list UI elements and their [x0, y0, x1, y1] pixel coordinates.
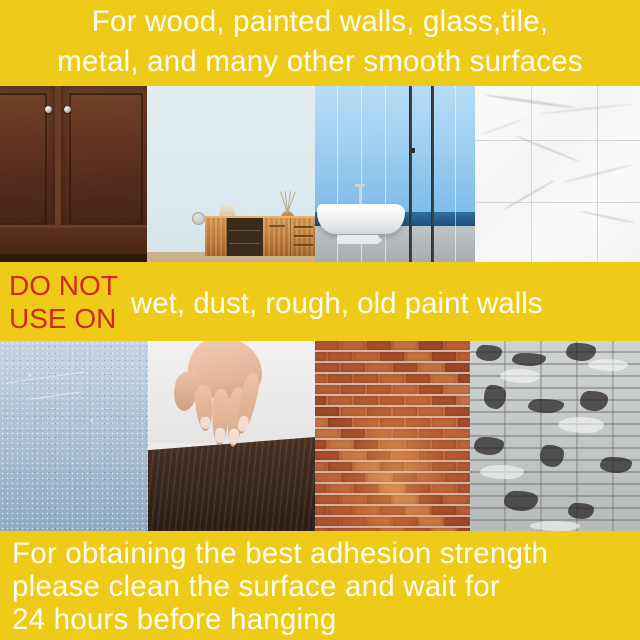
brick [328, 374, 352, 383]
whitewash-patch [588, 359, 628, 371]
brick [445, 407, 469, 416]
bath-mat [337, 235, 379, 244]
glass-pane-edge-4 [455, 86, 456, 262]
brick [354, 352, 378, 361]
brick [315, 341, 339, 350]
brick [393, 473, 417, 482]
brick [341, 363, 365, 372]
do-not-use-band: DO NOT USE ON wet, dust, rough, old pain… [0, 262, 640, 341]
brick [380, 352, 404, 361]
unsuitable-surfaces-photo-strip [0, 341, 640, 531]
brick [406, 352, 430, 361]
unsuitable-surfaces-text: wet, dust, rough, old paint walls [118, 283, 640, 320]
whitewash-patch [480, 465, 524, 479]
whitewash-patch [558, 417, 604, 433]
brick [445, 363, 469, 372]
brick [354, 462, 378, 471]
brick [445, 429, 469, 438]
brick [315, 418, 326, 427]
brick [432, 484, 456, 493]
brick [406, 396, 430, 405]
cabinet-knob-right [64, 106, 71, 113]
brick [393, 385, 417, 394]
brick [367, 495, 391, 504]
brick [419, 363, 443, 372]
brick [393, 451, 417, 460]
brick [419, 407, 443, 416]
brick [315, 517, 339, 526]
brick [354, 440, 378, 449]
brick [458, 418, 470, 427]
brick [432, 440, 456, 449]
brick [406, 462, 430, 471]
sky-through-glass [315, 86, 475, 216]
rough-red-brick-wall-photo [315, 341, 470, 531]
brick [367, 385, 391, 394]
suitable-surfaces-photo-strip [0, 86, 640, 262]
painted-wall-sideboard-photo [147, 86, 315, 262]
brick [458, 462, 470, 471]
brick [380, 506, 404, 515]
dark-wood-cabinet-photo [0, 86, 147, 262]
top-instruction-band: For wood, painted walls, glass,tile, met… [0, 0, 640, 86]
sideboard-open-shelves [227, 218, 263, 256]
cabinet-door-right [58, 86, 147, 236]
brick [458, 396, 470, 405]
brick [406, 440, 430, 449]
wooden-sideboard [205, 216, 315, 256]
brick [432, 506, 456, 515]
brick [367, 517, 391, 526]
brick [341, 407, 365, 416]
bathtub-faucet [359, 184, 361, 206]
bottom-instruction-band: For obtaining the best adhesion strength… [0, 531, 640, 640]
brick [341, 429, 365, 438]
brick [354, 484, 378, 493]
brick [432, 352, 456, 361]
brick [458, 484, 470, 493]
glass-door-frame-left [409, 86, 412, 262]
brick [341, 385, 365, 394]
brick [315, 385, 339, 394]
brick [393, 363, 417, 372]
brick [393, 517, 417, 526]
brick [380, 462, 404, 471]
brick [328, 484, 352, 493]
brick [380, 440, 404, 449]
brick [432, 374, 456, 383]
cabinet-floor-shadow [0, 254, 147, 262]
sideboard-cabinet-middle [263, 218, 291, 256]
brick [445, 341, 469, 350]
brick [406, 374, 430, 383]
cabinet-knob-left [45, 106, 52, 113]
freestanding-bathtub [317, 204, 405, 234]
brick [315, 484, 326, 493]
brick [406, 484, 430, 493]
brick [419, 473, 443, 482]
water-droplet-texture [0, 341, 148, 531]
hand-touching-dusty-wood-photo [148, 341, 315, 531]
brick [393, 495, 417, 504]
brick [419, 341, 443, 350]
brick [354, 374, 378, 383]
brick [341, 341, 365, 350]
brick [406, 506, 430, 515]
brick [380, 396, 404, 405]
brick-courses [315, 341, 470, 531]
brick [354, 396, 378, 405]
brick [419, 451, 443, 460]
brick [432, 418, 456, 427]
brick [367, 473, 391, 482]
glass-door-handle [411, 148, 415, 153]
brick [315, 407, 339, 416]
sideboard-cabinet-left [205, 218, 227, 256]
brick [341, 495, 365, 504]
white-marble-tile-photo [475, 86, 640, 262]
brick [328, 506, 352, 515]
brick [367, 341, 391, 350]
brick [419, 517, 443, 526]
brick [367, 451, 391, 460]
adhesion-instructions-text: For obtaining the best adhesion strength… [12, 537, 640, 636]
decorative-plate [192, 212, 205, 225]
brick [354, 418, 378, 427]
glass-door-frame-right [431, 86, 434, 262]
brick [328, 418, 352, 427]
brick [419, 495, 443, 504]
brick [328, 462, 352, 471]
hand-illustration [170, 341, 302, 455]
brick [328, 352, 352, 361]
sideboard-drawers-right [291, 218, 315, 256]
brick [315, 451, 339, 460]
brick [315, 363, 339, 372]
brick [419, 429, 443, 438]
brick [341, 451, 365, 460]
brick [315, 429, 339, 438]
brick [315, 495, 339, 504]
product-instruction-poster: For wood, painted walls, glass,tile, met… [0, 0, 640, 640]
brick [445, 517, 469, 526]
brick [393, 429, 417, 438]
brick [380, 484, 404, 493]
brick [445, 473, 469, 482]
brick [393, 407, 417, 416]
brick [406, 418, 430, 427]
dried-branches [278, 187, 298, 213]
brick [458, 374, 470, 383]
do-not-use-label: DO NOT USE ON [0, 269, 118, 335]
brick [458, 440, 470, 449]
brick [432, 462, 456, 471]
old-peeling-paint-brick-wall-photo [470, 341, 640, 531]
brick [393, 341, 417, 350]
brick [315, 352, 326, 361]
brick [458, 506, 470, 515]
brick [380, 418, 404, 427]
suitable-surfaces-text: For wood, painted walls, glass,tile, met… [6, 2, 634, 82]
brick [445, 385, 469, 394]
brick [315, 462, 326, 471]
brick [419, 385, 443, 394]
brick [328, 440, 352, 449]
brick [315, 440, 326, 449]
brick [432, 396, 456, 405]
brick [445, 451, 469, 460]
brick [315, 396, 326, 405]
brick [380, 374, 404, 383]
brick [367, 407, 391, 416]
whitewash-patch [500, 369, 540, 383]
glass-pane-edge-3 [385, 86, 386, 262]
brick [315, 473, 339, 482]
brick [354, 506, 378, 515]
brick [328, 396, 352, 405]
brick [367, 363, 391, 372]
brick [458, 352, 470, 361]
brick [341, 517, 365, 526]
brick [445, 495, 469, 504]
brick [315, 374, 326, 383]
brick [341, 473, 365, 482]
brick [367, 429, 391, 438]
wet-condensation-surface-photo [0, 341, 148, 531]
glass-partition-bathtub-photo [315, 86, 475, 262]
brick [315, 506, 326, 515]
